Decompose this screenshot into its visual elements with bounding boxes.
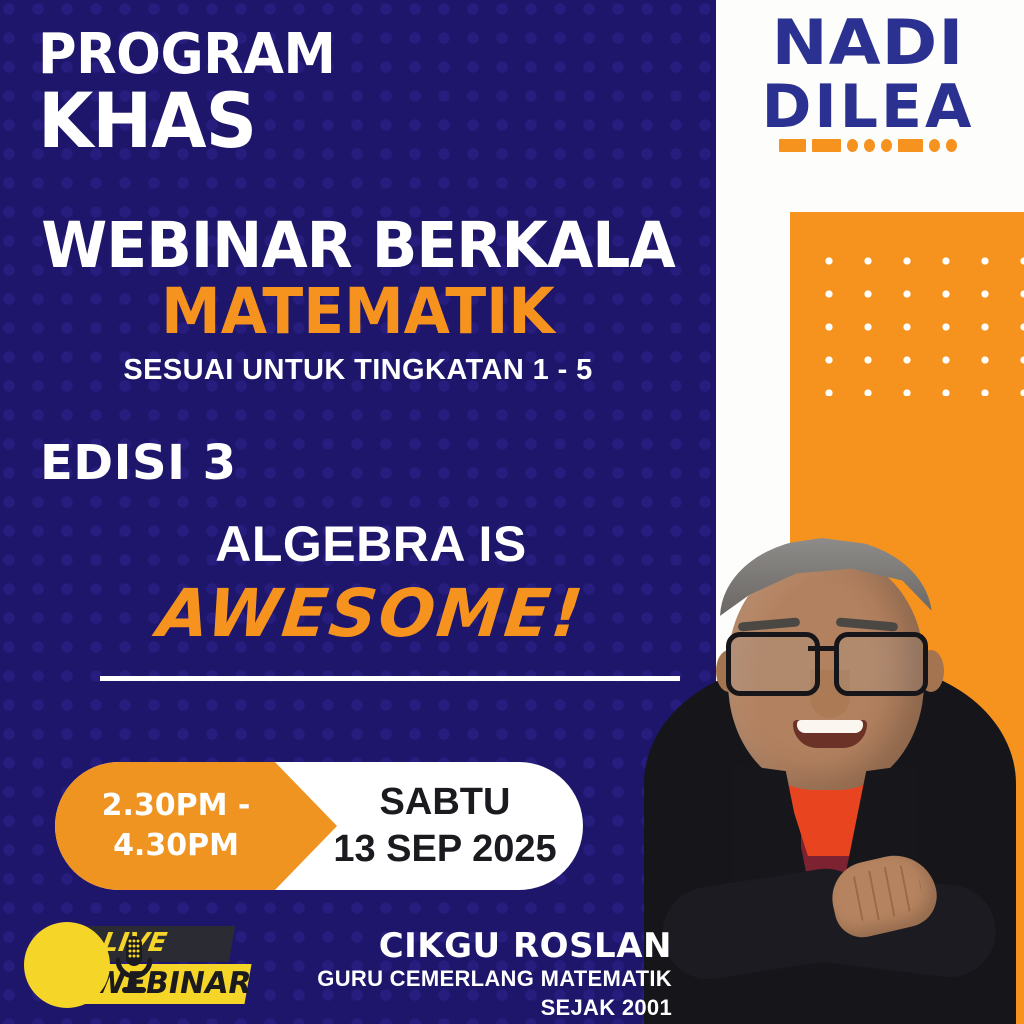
poster-content: PROGRAM KHAS WEBINAR BERKALA MATEMATIK S… — [0, 0, 1024, 1024]
schedule-time-line1: 2.30PM - — [102, 786, 251, 827]
section-divider — [100, 676, 680, 681]
webinar-poster: NADI DILEA PROGRAM KHAS WEBINAR BERKALA … — [0, 0, 1024, 1024]
schedule-date-value: 13 SEP 2025 — [333, 826, 556, 873]
microphone-icon — [111, 934, 157, 996]
program-title-line2: KHAS — [38, 84, 335, 158]
presenter-name: CIKGU ROSLAN — [300, 928, 672, 965]
schedule-badge: 2.30PM - 4.30PM SABTU 13 SEP 2025 — [55, 762, 583, 890]
program-title: PROGRAM KHAS — [38, 28, 354, 158]
presenter-role: GURU CEMERLANG MATEMATIK — [300, 965, 672, 994]
headline-audience: SESUAI UNTUK TINGKATAN 1 - 5 — [0, 354, 716, 387]
schedule-day: SABTU — [380, 779, 511, 826]
program-title-line1: PROGRAM — [38, 28, 335, 82]
topic-line-1: ALGEBRA IS — [0, 515, 742, 573]
schedule-date: SABTU 13 SEP 2025 — [307, 762, 583, 890]
mic-circle — [24, 922, 110, 1008]
headline-webinar: WEBINAR BERKALA — [18, 214, 698, 277]
edition-label: EDISI 3 — [40, 435, 237, 491]
headline-block: WEBINAR BERKALA MATEMATIK SESUAI UNTUK T… — [0, 214, 716, 387]
topic-line-2: AWESOME! — [0, 575, 746, 652]
headline-subject: MATEMATIK — [18, 277, 698, 348]
schedule-time-line2: 4.30PM — [113, 826, 239, 867]
schedule-time: 2.30PM - 4.30PM — [73, 762, 279, 890]
live-webinar-badge: LIVE WEBINAR — [24, 922, 244, 1008]
presenter-since: SEJAK 2001 — [300, 994, 672, 1023]
presenter-credits: CIKGU ROSLAN GURU CEMERLANG MATEMATIK SE… — [300, 928, 672, 1023]
